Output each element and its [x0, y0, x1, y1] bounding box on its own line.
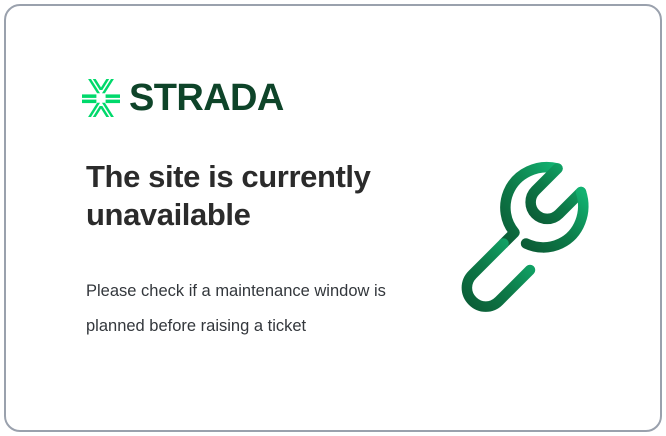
page-title: The site is currently unavailable: [86, 158, 416, 233]
page-description: Please check if a maintenance window is …: [86, 274, 386, 343]
maintenance-card: STRADA The site is currently unavailable…: [4, 4, 662, 432]
wrench-icon: [458, 154, 620, 316]
brand-wordmark: STRADA: [129, 79, 284, 117]
brand-logo: STRADA: [82, 74, 284, 122]
maintenance-page: STRADA The site is currently unavailable…: [0, 0, 666, 436]
strada-asterisk-icon: [82, 78, 120, 118]
